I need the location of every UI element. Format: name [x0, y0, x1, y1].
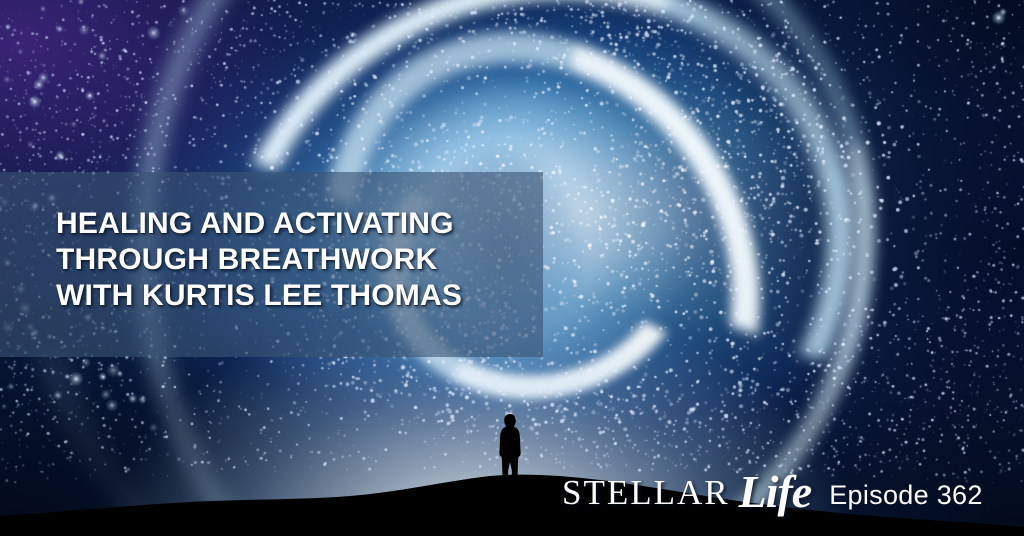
title-overlay-box: HEALING AND ACTIVATING THROUGH BREATHWOR…: [0, 172, 543, 357]
brand-name-stellar: STELLAR: [562, 475, 730, 510]
title-line-3: WITH KURTIS LEE THOMAS: [56, 278, 543, 314]
title-line-1: HEALING AND ACTIVATING: [56, 206, 543, 242]
brand-lockup: STELLAR Life Episode 362: [562, 466, 983, 512]
title-line-2: THROUGH BREATHWORK: [56, 242, 543, 278]
episode-label: Episode 362: [829, 482, 982, 509]
person-silhouette-icon: [494, 412, 526, 492]
podcast-cover-art: HEALING AND ACTIVATING THROUGH BREATHWOR…: [0, 0, 1024, 536]
brand-name-life: Life: [739, 469, 812, 515]
